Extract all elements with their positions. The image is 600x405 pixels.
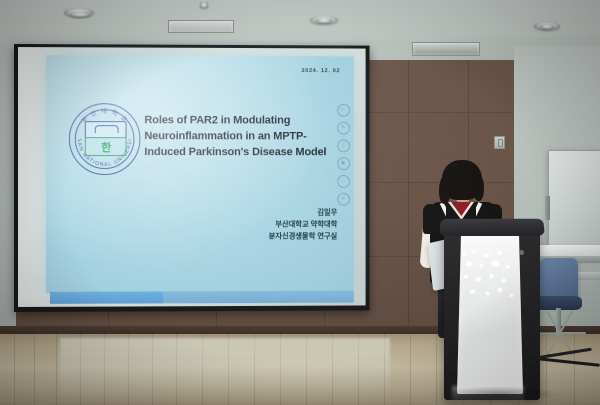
slide-title-line: Neuroinflammation in an MPTP- [144, 129, 349, 145]
ceiling-downlight [540, 24, 554, 29]
projected-slide: 2024. 12. 02 부 산 대 학 교 PUSAN NATIONAL UN… [46, 55, 354, 293]
office-chair-base [532, 332, 588, 340]
presenter-name: 김일우 [190, 207, 337, 219]
presenter-hair [442, 160, 482, 200]
projected-taskbar-left [50, 291, 163, 303]
eraser-icon[interactable]: ▣ [337, 157, 350, 170]
ceiling-vent [412, 42, 480, 56]
presenter-lab: 분자신경생물학 연구실 [190, 230, 337, 242]
presenter-vest-shoulder-left [423, 204, 438, 234]
slide-annotation-toolbar[interactable]: ▷ ✎ ╱ ▣ ⋯ ✳ [335, 104, 351, 206]
presenter-affiliation: 부산대학교 약학대학 [190, 219, 337, 231]
slide-title: Roles of PAR2 in Modulating Neuroinflamm… [144, 113, 349, 161]
ceiling-vent [168, 20, 234, 33]
podium-shadow [438, 386, 558, 402]
ceiling-projector-mount [200, 2, 208, 8]
ceiling-downlight [70, 12, 90, 17]
pusan-national-university-emblem: 부 산 대 학 교 PUSAN NATIONAL UNIVERSITY 한 [69, 103, 141, 175]
ceiling-downlight [316, 18, 332, 23]
podium-panel-reflections [460, 248, 518, 306]
highlighter-icon[interactable]: ╱ [337, 139, 350, 152]
slide-title-line: Roles of PAR2 in Modulating [144, 113, 349, 129]
wall-whiteboard [548, 150, 600, 256]
pointer-icon[interactable]: ▷ [337, 104, 350, 117]
projection-screen: 2024. 12. 02 부 산 대 학 교 PUSAN NATIONAL UN… [14, 44, 370, 312]
slide-date: 2024. 12. 02 [302, 68, 341, 74]
more-options-icon[interactable]: ⋯ [337, 175, 350, 188]
lectern-podium [444, 228, 540, 400]
pen-icon[interactable]: ✎ [337, 122, 350, 135]
emblem-book-shape [85, 121, 127, 138]
floor-light-reflection [60, 338, 390, 405]
whiteboard-mount [545, 196, 550, 220]
slide-author-block: 김일우 부산대학교 약학대학 분자신경생물학 연구실 [190, 207, 337, 243]
podium-top-surface [439, 219, 545, 236]
podium-control-knob[interactable] [519, 250, 524, 255]
emblem-monogram: 한 [85, 137, 127, 156]
lecture-hall-photo: 2024. 12. 02 부 산 대 학 교 PUSAN NATIONAL UN… [0, 0, 600, 405]
wall-outlet-plate [494, 136, 505, 149]
laser-pointer-icon[interactable]: ✳ [337, 193, 350, 206]
slide-title-line: Induced Parkinson's Disease Model [144, 145, 349, 161]
